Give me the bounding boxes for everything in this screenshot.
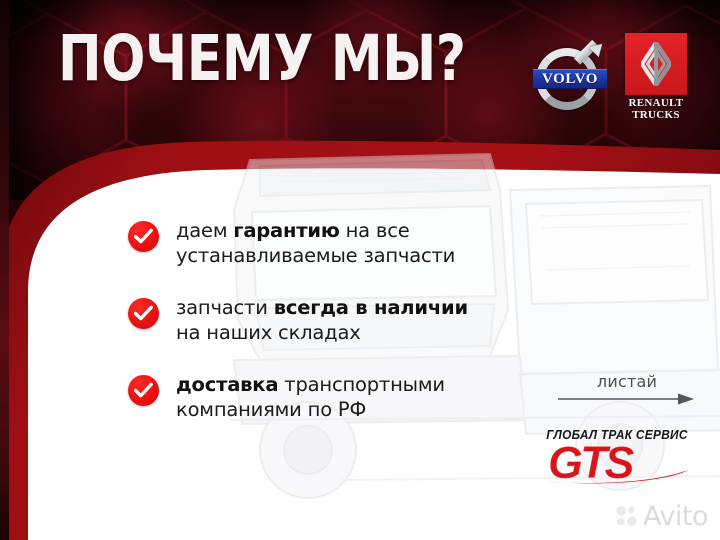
gts-logo-mark: GTS GTS [542,440,692,486]
renault-red-square [625,33,687,95]
avito-wordmark: Avito [643,501,708,532]
list-item-text: даем гарантию на всеустанавливаемые запч… [176,218,558,268]
volvo-logo: VOLVO [533,40,607,114]
check-circle-icon [128,298,159,329]
swipe-hint: листай [558,372,696,406]
list-item: даем гарантию на всеустанавливаемые запч… [128,218,558,268]
svg-text:GTS: GTS [548,440,634,486]
company-tagline: ГЛОБАЛ ТРАК СЕРВИС [546,428,689,442]
check-circle-icon [128,375,159,406]
avito-dots-icon [615,505,638,528]
renault-trucks-wordmark: RENAULT TRUCKS [625,98,687,121]
brand-logo-group: VOLVO RENAULT TRUCKS [533,33,687,121]
trucks-word: TRUCKS [625,110,687,122]
volvo-wordmark: VOLVO [542,71,598,88]
arrow-right-icon [558,392,696,406]
page-title: ПОЧЕМУ МЫ? [58,27,466,91]
list-item-text: запчасти всегда в наличиина наших склада… [176,295,558,345]
renault-diamond-icon [641,42,671,86]
list-item: запчасти всегда в наличиина наших склада… [128,295,558,345]
volvo-wordmark-band: VOLVO [533,69,607,89]
company-logo: ГЛОБАЛ ТРАК СЕРВИС GTS GTS [542,428,692,491]
left-edge-strip [0,0,9,540]
list-item-text: доставка транспортнымикомпаниями по РФ [176,372,558,422]
advertisement-banner: ПОЧЕМУ МЫ? VOLVO RENAULT TRUCKS [0,0,720,540]
renault-word: RENAULT [625,98,687,110]
benefits-list: даем гарантию на всеустанавливаемые запч… [128,218,558,449]
renault-trucks-logo: RENAULT TRUCKS [625,33,687,121]
swipe-hint-label: листай [558,372,696,391]
avito-watermark: Avito [615,501,708,532]
check-circle-icon [128,221,159,252]
list-item: доставка транспортнымикомпаниями по РФ [128,372,558,422]
